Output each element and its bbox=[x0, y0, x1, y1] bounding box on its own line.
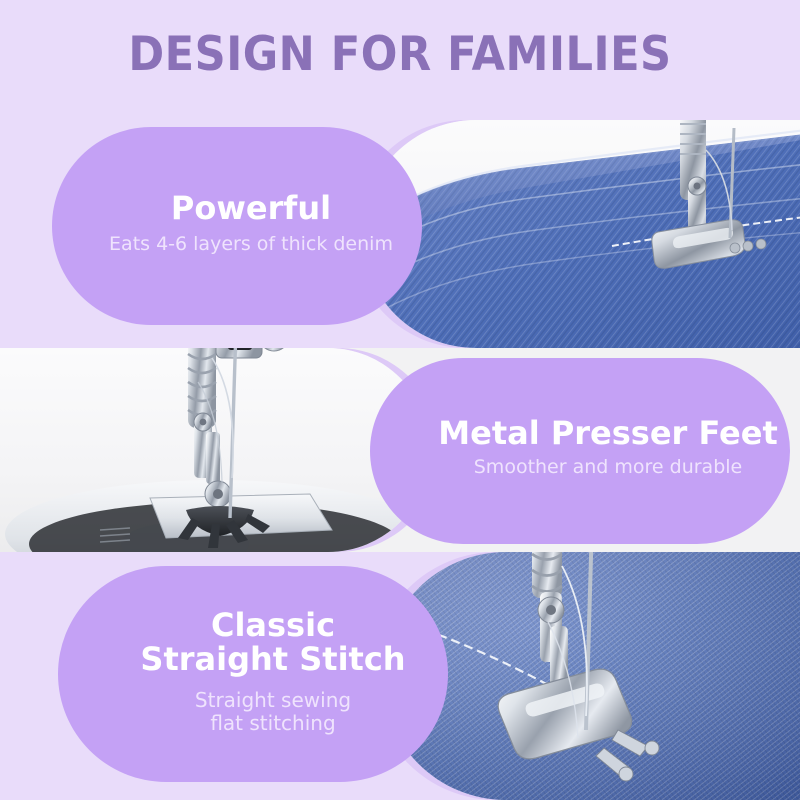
feature-pill-powerful: Powerful Eats 4-6 layers of thick denim bbox=[52, 127, 422, 325]
presser-foot-mechanism-illustration bbox=[0, 348, 430, 552]
feature-title-powerful: Powerful bbox=[171, 192, 331, 226]
feature-pill-text-metal-presser-feet: Metal Presser Feet Smoother and more dur… bbox=[438, 417, 777, 479]
metal-presser-foot-closeup-photo bbox=[0, 348, 430, 552]
feature-subtitle-classic-straight-stitch: Straight sewing flat stitching bbox=[195, 689, 351, 735]
feature-pill-text-classic-straight-stitch: Classic Straight Stitch Straight sewing … bbox=[140, 609, 405, 734]
feature-pill-metal-presser-feet: Metal Presser Feet Smoother and more dur… bbox=[370, 358, 790, 544]
feature-pill-text-powerful: Powerful Eats 4-6 layers of thick denim bbox=[109, 192, 393, 255]
feature-pill-classic-straight-stitch: Classic Straight Stitch Straight sewing … bbox=[58, 566, 448, 782]
feature-subtitle-metal-presser-feet: Smoother and more durable bbox=[474, 457, 742, 479]
denim-layers-illustration bbox=[362, 120, 800, 348]
feature-title-metal-presser-feet: Metal Presser Feet bbox=[438, 417, 777, 451]
denim-layers-presser-foot-photo bbox=[362, 120, 800, 348]
feature-subtitle-powerful: Eats 4-6 layers of thick denim bbox=[109, 234, 393, 256]
page-title: DESIGN FOR FAMILIES bbox=[0, 27, 800, 82]
feature-title-classic-straight-stitch: Classic Straight Stitch bbox=[140, 609, 405, 676]
